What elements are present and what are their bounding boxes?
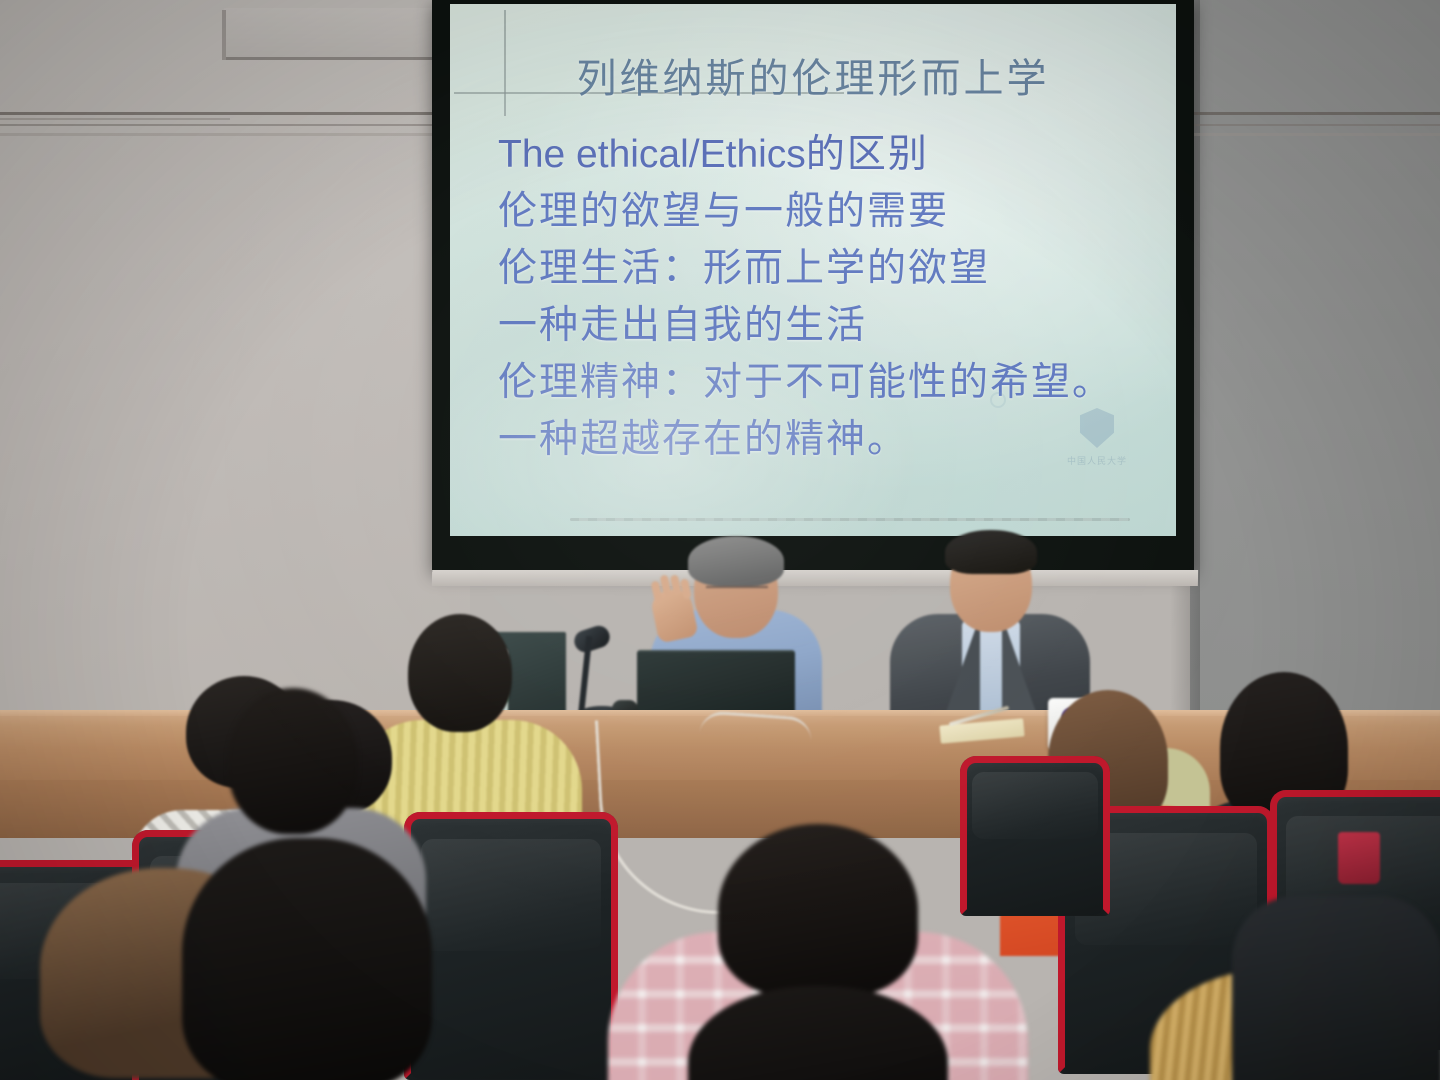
red-cup bbox=[1338, 832, 1380, 884]
chair bbox=[404, 812, 618, 1080]
lecture-hall-photo: 列维纳斯的伦理形而上学 The ethical/Ethics的区别 伦理的欲望与… bbox=[0, 0, 1440, 1080]
slide-line-1-chinese: 的区别 bbox=[806, 133, 929, 176]
slide-line-1: The ethical/Ethics的区别 bbox=[498, 126, 1158, 183]
slide-line-5: 伦理精神：对于不可能性的希望。 bbox=[498, 354, 1158, 411]
watermark-shield-icon bbox=[1080, 408, 1114, 448]
presenter-seated-hair bbox=[945, 530, 1037, 574]
glasses-icon bbox=[706, 586, 768, 596]
audience-dark-head-center-head bbox=[688, 986, 948, 1080]
projection-screen-frame: 列维纳斯的伦理形而上学 The ethical/Ethics的区别 伦理的欲望与… bbox=[432, 0, 1194, 572]
soffit-edge bbox=[222, 10, 226, 60]
slide-line-3: 伦理生活：形而上学的欲望 bbox=[498, 240, 1158, 297]
slide-body: The ethical/Ethics的区别 伦理的欲望与一般的需要 伦理生活：形… bbox=[498, 126, 1158, 468]
slide-watermark: 中国人民大学 bbox=[1062, 408, 1132, 484]
audience-dark-head-center bbox=[688, 986, 948, 1080]
audience-dark-top-2-body bbox=[1232, 896, 1440, 1080]
audience-dark-head-left bbox=[182, 838, 432, 1080]
slide-line-1-english: The ethical/Ethics bbox=[498, 133, 806, 176]
wall-right bbox=[1190, 0, 1440, 740]
audience-dark-head-left-head bbox=[182, 838, 432, 1080]
slide-line-4: 一种走出自我的生活 bbox=[498, 297, 1158, 354]
slide-line-2: 伦理的欲望与一般的需要 bbox=[498, 183, 1158, 240]
presenter-speaking-hair bbox=[688, 536, 784, 586]
projection-screen-surface: 列维纳斯的伦理形而上学 The ethical/Ethics的区别 伦理的欲望与… bbox=[450, 4, 1176, 536]
slide-decoration-wave bbox=[570, 518, 1130, 521]
slide-line-6: 一种超越存在的精神。 bbox=[498, 411, 1158, 468]
wall-molding-left bbox=[0, 118, 230, 120]
watermark-ring-icon bbox=[990, 392, 1006, 408]
audience-dark-top-2 bbox=[1232, 836, 1440, 1080]
watermark-label: 中国人民大学 bbox=[1062, 454, 1132, 467]
slide-title: 列维纳斯的伦理形而上学 bbox=[450, 46, 1176, 104]
audience-pink-plaid-head bbox=[718, 824, 918, 996]
audience-gray-tshirt-head bbox=[228, 688, 358, 834]
